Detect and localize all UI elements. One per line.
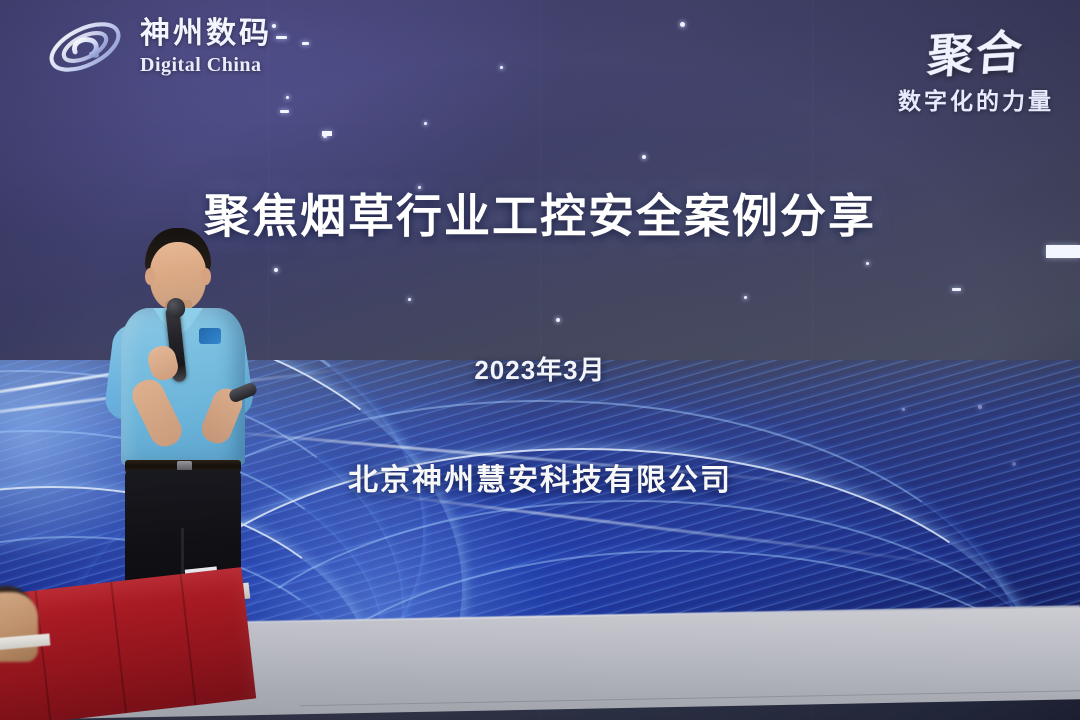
- sparkle-particle: [866, 262, 869, 265]
- sparkle-particle: [500, 66, 503, 69]
- foreground-attendee: [0, 592, 38, 662]
- sparkle-particle: [680, 22, 685, 27]
- sparkle-particle: [744, 296, 747, 299]
- digital-china-swirl-icon: [44, 14, 126, 80]
- brand-wordmark: 神州数码 Digital China: [140, 19, 272, 75]
- foreground-head-table: [0, 580, 265, 720]
- brand-logo-top-left: 神州数码 Digital China: [44, 14, 272, 80]
- sparkle-dash: [952, 288, 961, 291]
- screen-edge-marker: [1046, 245, 1080, 258]
- screenshot-root: 神州数码 Digital China 聚合 数字化的力量 聚焦烟草行业工控安全案…: [0, 0, 1080, 720]
- shirt-logo-icon: [199, 328, 221, 344]
- sparkle-dash: [276, 36, 287, 39]
- sparkle-dash: [280, 110, 289, 113]
- sparkle-particle: [408, 298, 411, 301]
- sparkle-dash: [302, 42, 309, 45]
- event-theme-subtitle: 数字化的力量: [898, 82, 1054, 116]
- event-theme-calligraphy: 聚合: [925, 16, 1026, 87]
- speaker-ear-right: [201, 268, 211, 285]
- sparkle-particle: [272, 24, 276, 28]
- screen-edge-marker: [322, 131, 332, 136]
- brand-name-en: Digital China: [140, 55, 272, 75]
- skirt-fold: [110, 582, 127, 713]
- speaker-ear-left: [145, 268, 155, 285]
- sparkle-particle: [642, 155, 646, 159]
- speaker-figure: [95, 228, 275, 628]
- skirt-fold: [180, 574, 197, 705]
- sparkle-particle: [286, 96, 289, 99]
- sparkle-particle: [424, 122, 427, 125]
- event-theme-top-right: 聚合 数字化的力量: [898, 18, 1054, 116]
- brand-name-cn: 神州数码: [140, 19, 272, 49]
- sparkle-particle: [556, 318, 560, 322]
- skirt-fold: [35, 590, 52, 720]
